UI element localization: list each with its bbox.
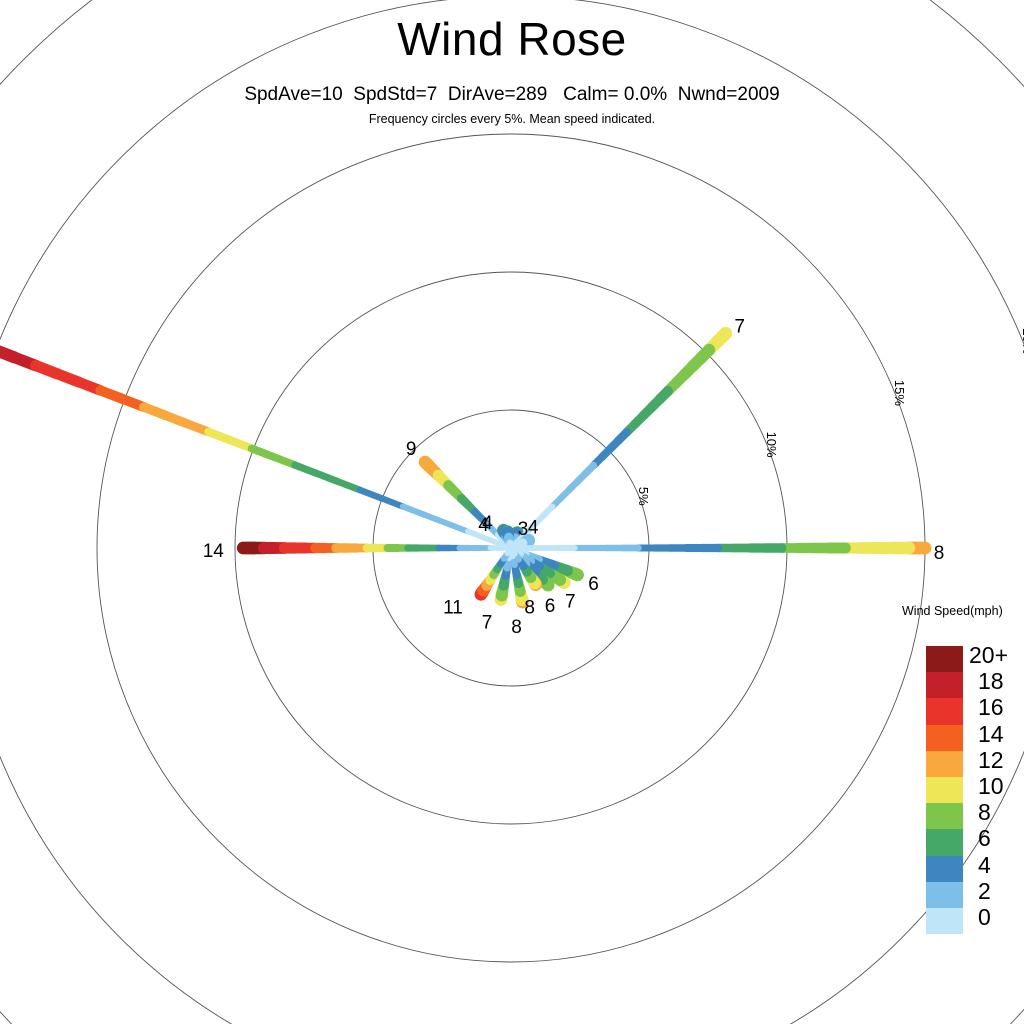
petal-speed-segment xyxy=(403,507,425,515)
legend-row: 2 xyxy=(926,882,1024,908)
petal-mean-speed-label: 8 xyxy=(934,543,945,564)
wind-petal xyxy=(511,333,726,548)
legend-label: 10 xyxy=(978,773,1004,800)
legend-row: 8 xyxy=(926,803,1024,829)
ring-label: 5% xyxy=(636,487,651,506)
legend-label: 4 xyxy=(978,852,991,879)
petal-mean-speed-label: 4 xyxy=(478,515,489,536)
petal-mean-speed-label: 3 xyxy=(518,519,529,540)
ring-label: 20% xyxy=(1020,328,1024,354)
wind-petal xyxy=(0,332,511,548)
petal-speed-segment xyxy=(360,490,382,498)
ring-label: 15% xyxy=(892,380,907,406)
legend-color-swatch xyxy=(926,856,963,882)
legend-row: 0 xyxy=(926,908,1024,934)
petal-mean-speed-label: 9 xyxy=(406,439,417,460)
petal-mean-speed-label: 14 xyxy=(203,541,225,562)
legend-color-swatch xyxy=(926,908,963,934)
petal-speed-segment xyxy=(317,473,339,481)
petal-mean-speed-label: 8 xyxy=(511,617,522,638)
wind-petal xyxy=(508,532,511,548)
petal-mean-speed-label: 4 xyxy=(528,518,539,539)
legend-color-swatch xyxy=(926,725,963,751)
legend-row: 20+ xyxy=(926,646,1024,672)
legend-label: 20+ xyxy=(969,642,1008,669)
legend-color-swatch xyxy=(926,672,963,698)
petal-speed-segment xyxy=(425,515,447,523)
legend-row: 16 xyxy=(926,698,1024,724)
legend-row: 12 xyxy=(926,751,1024,777)
legend-label: 12 xyxy=(978,747,1004,774)
legend-label: 18 xyxy=(978,668,1004,695)
petal-mean-speed-label: 8 xyxy=(524,598,535,619)
legend-color-swatch xyxy=(926,777,963,803)
ring-label: 10% xyxy=(764,432,779,458)
legend-label: 8 xyxy=(978,799,991,826)
petal-mean-speed-label: 7 xyxy=(482,612,493,633)
legend-label: 16 xyxy=(978,694,1004,721)
grid-circle xyxy=(0,0,1024,1024)
legend-color-swatch xyxy=(926,646,963,672)
legend-color-swatch xyxy=(926,803,963,829)
legend-row: 10 xyxy=(926,777,1024,803)
petal-speed-segment xyxy=(446,523,468,531)
legend-label: 6 xyxy=(978,825,991,852)
wind-rose-plot: 5%10%15%20%25%30%3478676887111414944 xyxy=(0,0,1024,1024)
petal-mean-speed-label: 7 xyxy=(565,592,576,613)
legend-label: 14 xyxy=(978,721,1004,748)
grid-circle xyxy=(0,0,1024,1024)
petal-mean-speed-label: 11 xyxy=(443,597,463,618)
grid-circle xyxy=(0,0,1024,1024)
legend-color-swatch xyxy=(926,751,963,777)
legend-color-swatch xyxy=(926,698,963,724)
legend-row: 14 xyxy=(926,725,1024,751)
legend-swatches: 20+181614121086420 xyxy=(926,646,1024,934)
legend-label: 0 xyxy=(978,904,991,931)
legend-color-swatch xyxy=(926,882,963,908)
petal-mean-speed-label: 6 xyxy=(588,574,599,595)
wind-petal xyxy=(425,462,511,548)
petal-speed-segment xyxy=(381,498,403,506)
petal-speed-segment xyxy=(338,482,360,490)
wind-rose-page: Wind Rose SpdAve=10 SpdStd=7 DirAve=289 … xyxy=(0,0,1024,1024)
legend-title: Wind Speed(mph) xyxy=(902,604,1024,618)
legend-color-swatch xyxy=(926,829,963,855)
legend-row: 4 xyxy=(926,856,1024,882)
petal-mean-speed-label: 7 xyxy=(734,316,745,337)
legend-row: 18 xyxy=(926,672,1024,698)
legend-row: 6 xyxy=(926,829,1024,855)
legend: Wind Speed(mph) 20+181614121086420 xyxy=(900,604,1024,934)
petal-mean-speed-label: 6 xyxy=(545,596,556,617)
legend-label: 2 xyxy=(978,878,991,905)
